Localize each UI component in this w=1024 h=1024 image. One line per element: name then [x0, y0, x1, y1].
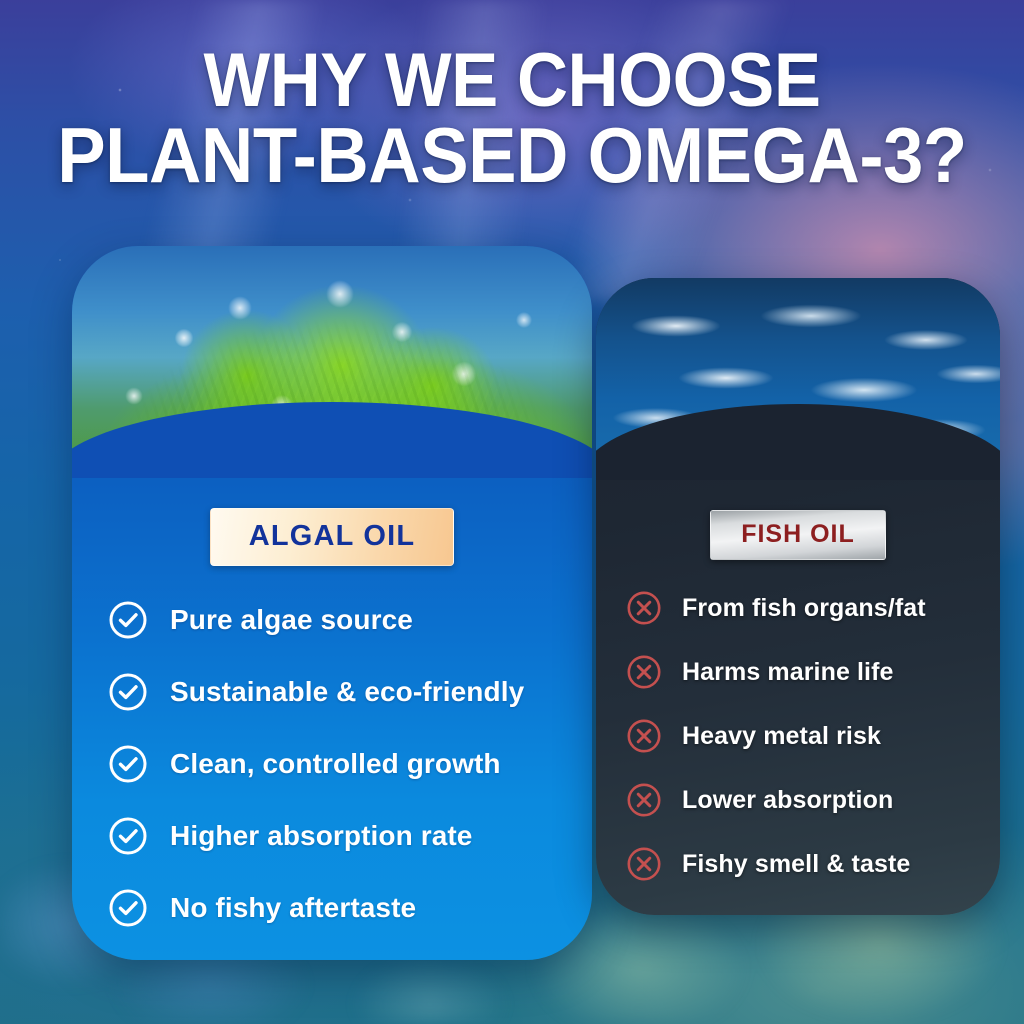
x-circle-icon: [626, 718, 662, 754]
list-item: Harms marine life: [626, 654, 1000, 690]
algal-badge-row: ALGAL OIL: [72, 478, 592, 566]
list-item-label: Heavy metal risk: [682, 722, 881, 751]
title-line-1: WHY WE CHOOSE: [36, 44, 988, 118]
title-line-2: PLANT-BASED OMEGA-3?: [36, 118, 988, 192]
algal-oil-card[interactable]: ALGAL OIL Pure algae source Sustainable …: [72, 246, 592, 960]
x-circle-icon: [626, 782, 662, 818]
list-item-label: From fish organs/fat: [682, 594, 926, 623]
fish-badge-row: FISH OIL: [596, 480, 1000, 560]
check-circle-icon: [108, 816, 148, 856]
x-circle-icon: [626, 846, 662, 882]
check-circle-icon: [108, 600, 148, 640]
fish-oil-card[interactable]: FISH OIL From fish organs/fat Harms mari…: [596, 278, 1000, 915]
check-circle-icon: [108, 888, 148, 928]
algal-oil-badge: ALGAL OIL: [210, 508, 455, 566]
list-item-label: Harms marine life: [682, 658, 894, 687]
list-item: Sustainable & eco-friendly: [108, 672, 592, 712]
algae-photo: [72, 246, 592, 478]
x-circle-icon: [626, 590, 662, 626]
list-item-label: Pure algae source: [170, 604, 413, 636]
list-item: Fishy smell & taste: [626, 846, 1000, 882]
list-item: Heavy metal risk: [626, 718, 1000, 754]
fish-photo: [596, 278, 1000, 480]
check-circle-icon: [108, 672, 148, 712]
list-item: Higher absorption rate: [108, 816, 592, 856]
algal-benefits-list: Pure algae source Sustainable & eco-frie…: [108, 600, 592, 928]
list-item: Clean, controlled growth: [108, 744, 592, 784]
list-item: Pure algae source: [108, 600, 592, 640]
fish-drawbacks-list: From fish organs/fat Harms marine life H…: [626, 590, 1000, 882]
list-item: No fishy aftertaste: [108, 888, 592, 928]
page-title: WHY WE CHOOSE PLANT-BASED OMEGA-3?: [0, 44, 1024, 192]
list-item: Lower absorption: [626, 782, 1000, 818]
list-item-label: Sustainable & eco-friendly: [170, 676, 524, 708]
list-item: From fish organs/fat: [626, 590, 1000, 626]
list-item-label: No fishy aftertaste: [170, 892, 416, 924]
list-item-label: Higher absorption rate: [170, 820, 472, 852]
check-circle-icon: [108, 744, 148, 784]
list-item-label: Fishy smell & taste: [682, 850, 910, 879]
infographic-canvas: WHY WE CHOOSE PLANT-BASED OMEGA-3? ALGAL…: [0, 0, 1024, 1024]
x-circle-icon: [626, 654, 662, 690]
list-item-label: Clean, controlled growth: [170, 748, 501, 780]
list-item-label: Lower absorption: [682, 786, 893, 815]
fish-oil-badge: FISH OIL: [710, 510, 886, 560]
